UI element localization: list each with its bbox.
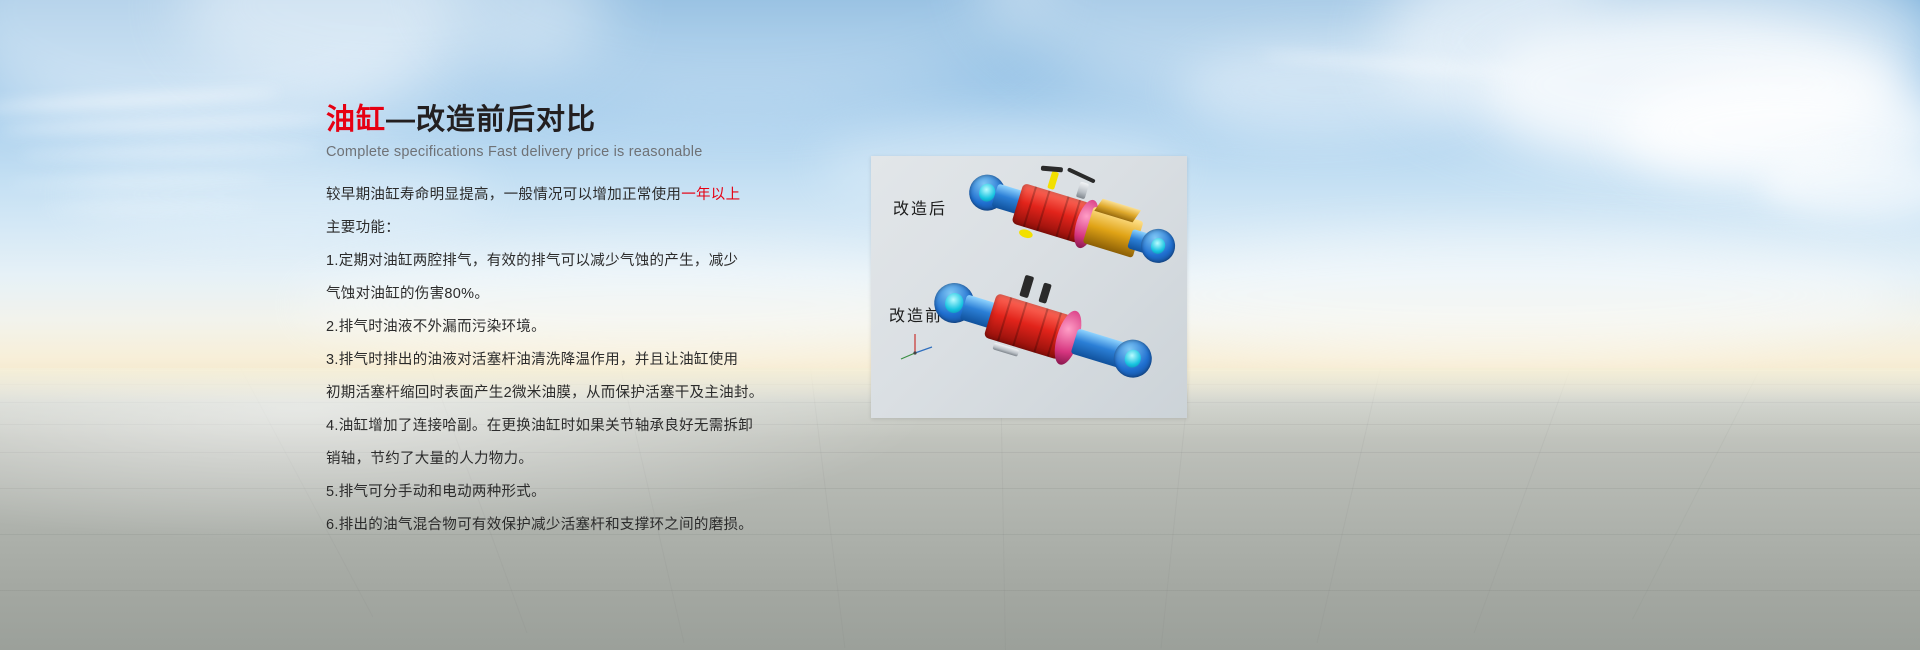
text-content: 油缸—改造前后对比 Complete specifications Fast d…: [326, 100, 886, 545]
cloud: [1100, 230, 1900, 360]
page-subtitle: Complete specifications Fast delivery pr…: [326, 144, 886, 160]
drain-fitting: [1018, 228, 1034, 240]
body-line: 气蚀对油缸的伤害80%。: [326, 281, 886, 307]
body-line: 销轴，节约了大量的人力物力。: [326, 446, 886, 472]
body-line-highlight: 一年以上: [681, 187, 740, 203]
body-line: 6.排出的油气混合物可有效保护减少活塞杆和支撑环之间的磨损。: [326, 512, 886, 538]
page-title: 油缸—改造前后对比: [326, 100, 886, 140]
page-title-highlight: 油缸: [326, 104, 386, 136]
port-fitting: [1019, 275, 1034, 299]
body-line-text: 较早期油缸寿命明显提高，一般情况可以增加正常使用: [326, 187, 681, 203]
feature-list: 较早期油缸寿命明显提高，一般情况可以增加正常使用一年以上 主要功能： 1.定期对…: [326, 182, 886, 538]
body-line: 初期活塞杆缩回时表面产生2微米油膜，从而保护活塞干及主油封。: [326, 380, 886, 406]
body-line: 5.排气可分手动和电动两种形式。: [326, 479, 886, 505]
label-after: 改造后: [893, 195, 947, 219]
banner-stage: 油缸—改造前后对比 Complete specifications Fast d…: [0, 0, 1920, 650]
body-line: 4.油缸增加了连接哈副。在更换油缸时如果关节轴承良好无需拆卸: [326, 413, 886, 439]
vent-valve-fitting: [1047, 171, 1059, 190]
page-title-rest: —改造前后对比: [386, 104, 596, 136]
body-line: 3.排气时排出的油液对活塞杆油清洗降温作用，并且让油缸使用: [326, 347, 886, 373]
port-fitting: [1076, 181, 1089, 199]
body-line: 较早期油缸寿命明显提高，一般情况可以增加正常使用一年以上: [326, 182, 886, 208]
hose-line: [1041, 166, 1063, 173]
cloud: [430, 0, 1050, 110]
body-line: 2.排气时油液不外漏而污染环境。: [326, 314, 886, 340]
body-line: 1.定期对油缸两腔排气，有效的排气可以减少气蚀的产生，减少: [326, 248, 886, 274]
cloud: [1180, 40, 1480, 140]
body-line: 主要功能：: [326, 215, 886, 241]
product-image-panel: 改造后 改造前: [871, 156, 1187, 418]
port-fitting: [1038, 282, 1051, 303]
